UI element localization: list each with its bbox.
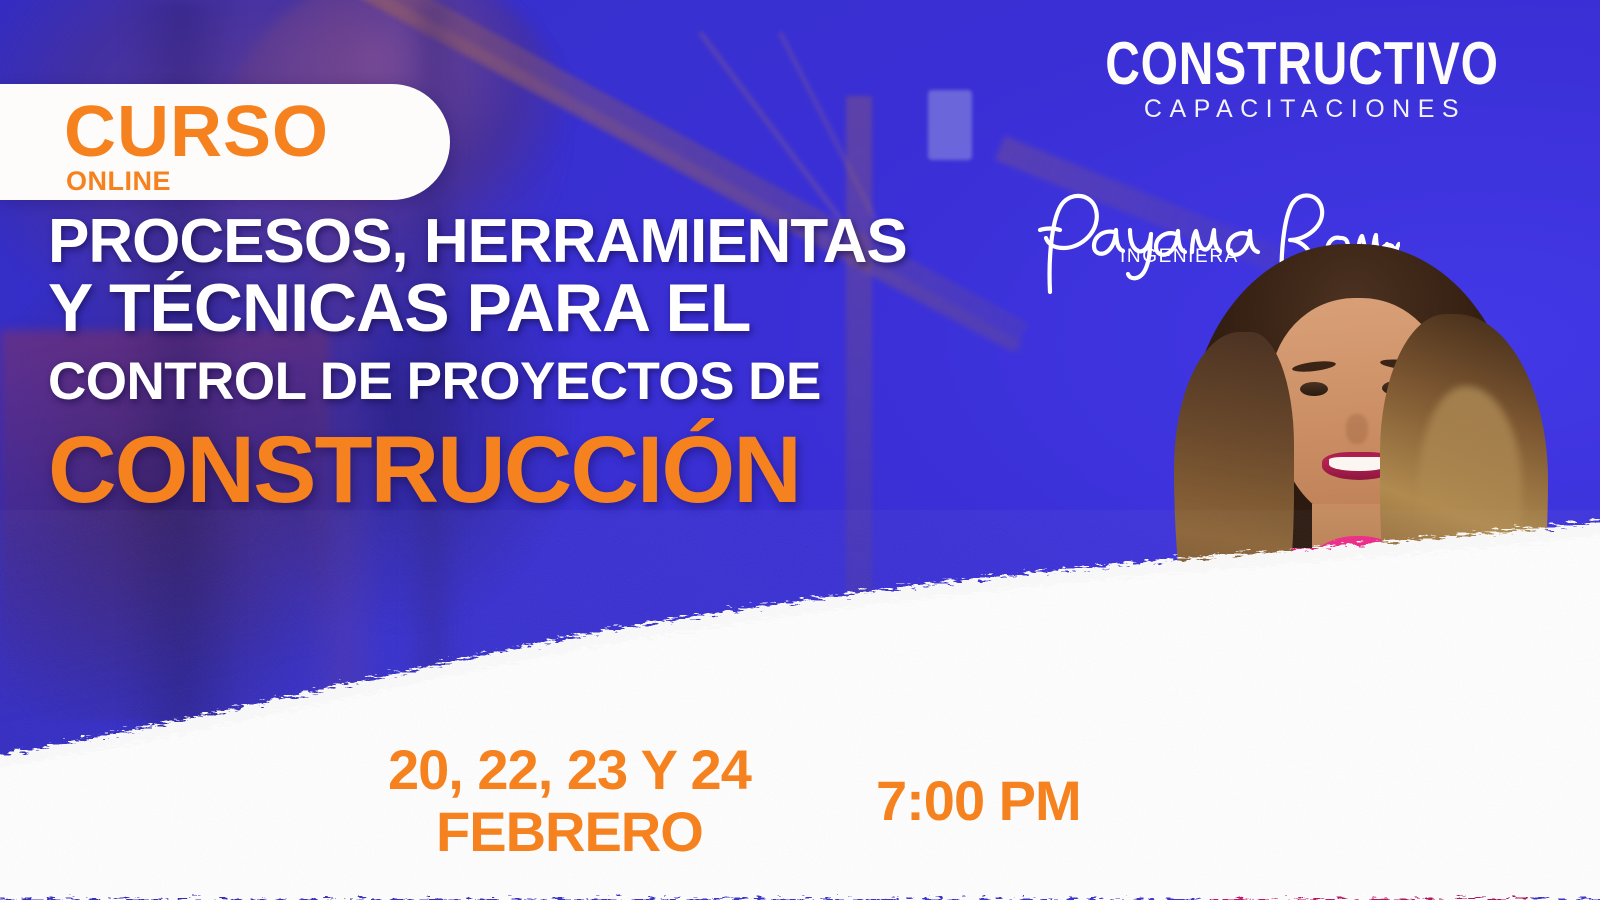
badge-modality-label: ONLINE (66, 168, 171, 195)
badge-type-label: CURSO (64, 96, 329, 168)
headline-line-3: CONTROL DE PROYECTOS DE (48, 356, 1048, 407)
bracelet-charm-icon (1392, 828, 1410, 846)
dates-line-2: FEBRERO (388, 804, 751, 860)
headline-line-1: PROCESOS, HERRAMIENTAS (48, 212, 1048, 272)
eye-left (1300, 382, 1328, 396)
brand-name: CONSTRUCTIVO (1105, 36, 1499, 91)
brand-tagline: CAPACITACIONES (1062, 95, 1548, 124)
page-title: PROCESOS, HERRAMIENTAS Y TÉCNICAS PARA E… (48, 212, 1048, 518)
schedule-dates: 20, 22, 23 Y 24 FEBRERO (388, 742, 751, 860)
schedule-time: 7:00 PM (876, 768, 1081, 833)
course-promo-banner: CURSO ONLINE PROCESOS, HERRAMIENTAS Y TÉ… (0, 0, 1600, 900)
ring-icon (1234, 756, 1248, 767)
headline-emphasis: CONSTRUCCIÓN (48, 423, 1048, 518)
crane-cab-icon (928, 90, 972, 160)
smartwatch-icon (1318, 728, 1358, 782)
course-type-badge: CURSO ONLINE (0, 84, 450, 200)
nose (1346, 414, 1368, 444)
dates-line-1: 20, 22, 23 Y 24 (388, 742, 751, 798)
instructor-portrait (1128, 236, 1598, 900)
brand-logo: CONSTRUCTIVO CAPACITACIONES (1056, 36, 1548, 124)
headline-line-2: Y TÉCNICAS PARA EL (48, 276, 1048, 342)
